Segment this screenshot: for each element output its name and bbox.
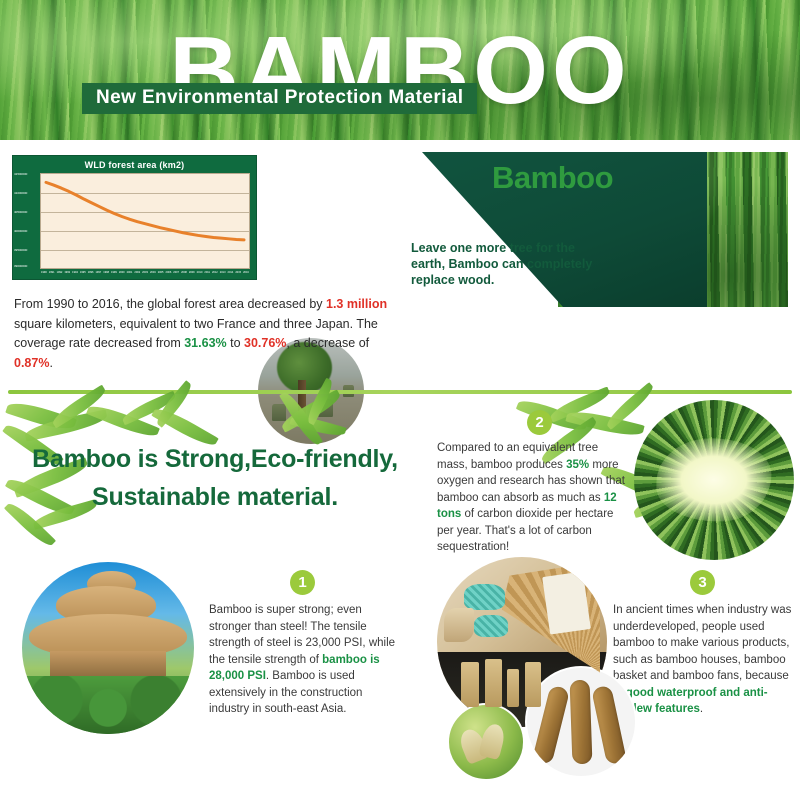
- para-text-1: From 1990 to 2016, the global forest are…: [14, 297, 326, 311]
- item-3-text: In ancient times when industry was under…: [613, 602, 795, 718]
- chart-xtick: 1997: [95, 271, 101, 280]
- chart-xtick: 1991: [49, 271, 55, 280]
- chart-xtick: 2008: [181, 271, 187, 280]
- item-3-b1: good waterproof and anti-mildew features: [613, 687, 768, 716]
- item-3-t2: .: [700, 703, 703, 715]
- chart-xtick: 1990: [41, 271, 47, 280]
- chart-xtick: 1998: [103, 271, 109, 280]
- chart-ytick-0: 41500000: [14, 172, 27, 176]
- chart-xtick: 2009: [189, 271, 195, 280]
- para-highlight-1: 1.3 million: [326, 297, 387, 311]
- item-1-number-badge: 1: [290, 570, 315, 595]
- chart-xtick: 1994: [72, 271, 78, 280]
- chart-xtick: 2004: [150, 271, 156, 280]
- item-1-text: Bamboo is super strong; even stronger th…: [209, 602, 401, 718]
- chart-ytick-1: 41000000: [14, 191, 27, 195]
- para-highlight-3: 30.76%: [244, 336, 286, 350]
- chart-xtick: 2014: [228, 271, 234, 280]
- fan-label-shape: [542, 571, 590, 634]
- forest-area-chart: WLD forest area (km2) 41500000 41000000 …: [12, 155, 257, 280]
- chart-xtick: 2001: [127, 271, 133, 280]
- headline-text: Bamboo is Strong,Eco-friendly, Sustainab…: [0, 440, 430, 516]
- green-divider-rule: [8, 390, 792, 394]
- item-3-number-badge: 3: [690, 570, 715, 595]
- para-text-4: , a decrease of: [286, 336, 369, 350]
- chart-ytick-2: 40500000: [14, 210, 27, 214]
- chart-xtick: 2010: [197, 271, 203, 280]
- chart-xtick: 2011: [204, 271, 210, 280]
- para-text-5: .: [49, 356, 52, 370]
- chart-xtick: 2012: [212, 271, 218, 280]
- chart-ytick-4: 39500000: [14, 248, 27, 252]
- banner-caption: Leave one more tree for the earth, Bambo…: [411, 240, 611, 288]
- bamboo-house-photo: [22, 562, 194, 734]
- chart-xtick: 1993: [64, 271, 70, 280]
- chart-xtick: 2006: [166, 271, 172, 280]
- chart-xtick: 2003: [142, 271, 148, 280]
- header-subtitle-banner: New Environmental Protection Material: [82, 83, 477, 114]
- forest-decline-paragraph: From 1990 to 2016, the global forest are…: [14, 295, 394, 373]
- chart-xtick: 2015: [235, 271, 241, 280]
- bamboo-poles-photo: [525, 666, 637, 778]
- header: BAMBOO New Environmental Protection Mate…: [0, 0, 800, 140]
- chart-xtick: 1995: [80, 271, 86, 280]
- item-3-t1: In ancient times when industry was under…: [613, 604, 791, 699]
- item-2-number-badge: 2: [527, 410, 552, 435]
- para-highlight-2: 31.63%: [184, 336, 226, 350]
- bamboo-replace-wood-banner: Bamboo Leave one more tree for the earth…: [407, 152, 788, 307]
- chart-xtick: 2007: [173, 271, 179, 280]
- item-2-b1: 35%: [566, 459, 589, 471]
- bamboo-canopy-world-map-photo: [634, 400, 794, 560]
- para-text-3: to: [227, 336, 244, 350]
- para-highlight-4: 0.87%: [14, 356, 49, 370]
- bamboo-shoots-photo: [447, 703, 525, 781]
- chart-ytick-3: 40000000: [14, 229, 27, 233]
- section-forest-decline: WLD forest area (km2) 41500000 41000000 …: [0, 140, 800, 385]
- chart-xtick: 1992: [57, 271, 63, 280]
- banner-word: Bamboo: [492, 160, 613, 196]
- chart-line-series: [40, 173, 250, 269]
- chart-xtick: 1996: [88, 271, 94, 280]
- chart-xtick: 2000: [119, 271, 125, 280]
- chart-ytick-5: 39000000: [14, 264, 27, 268]
- chart-xtick: 2002: [134, 271, 140, 280]
- chart-xtick: 2016: [243, 271, 249, 280]
- chart-xtick: 2013: [220, 271, 226, 280]
- infographic-page: BAMBOO New Environmental Protection Mate…: [0, 0, 800, 800]
- chart-x-axis: 1990199119921993199419951996199719981999…: [41, 271, 249, 279]
- chart-xtick: 1999: [111, 271, 117, 280]
- item-2-text: Compared to an equivalent tree mass, bam…: [437, 440, 629, 556]
- item-2-t3: of carbon dioxide per hectare per year. …: [437, 508, 613, 553]
- chart-xtick: 2005: [158, 271, 164, 280]
- chart-title: WLD forest area (km2): [13, 156, 256, 170]
